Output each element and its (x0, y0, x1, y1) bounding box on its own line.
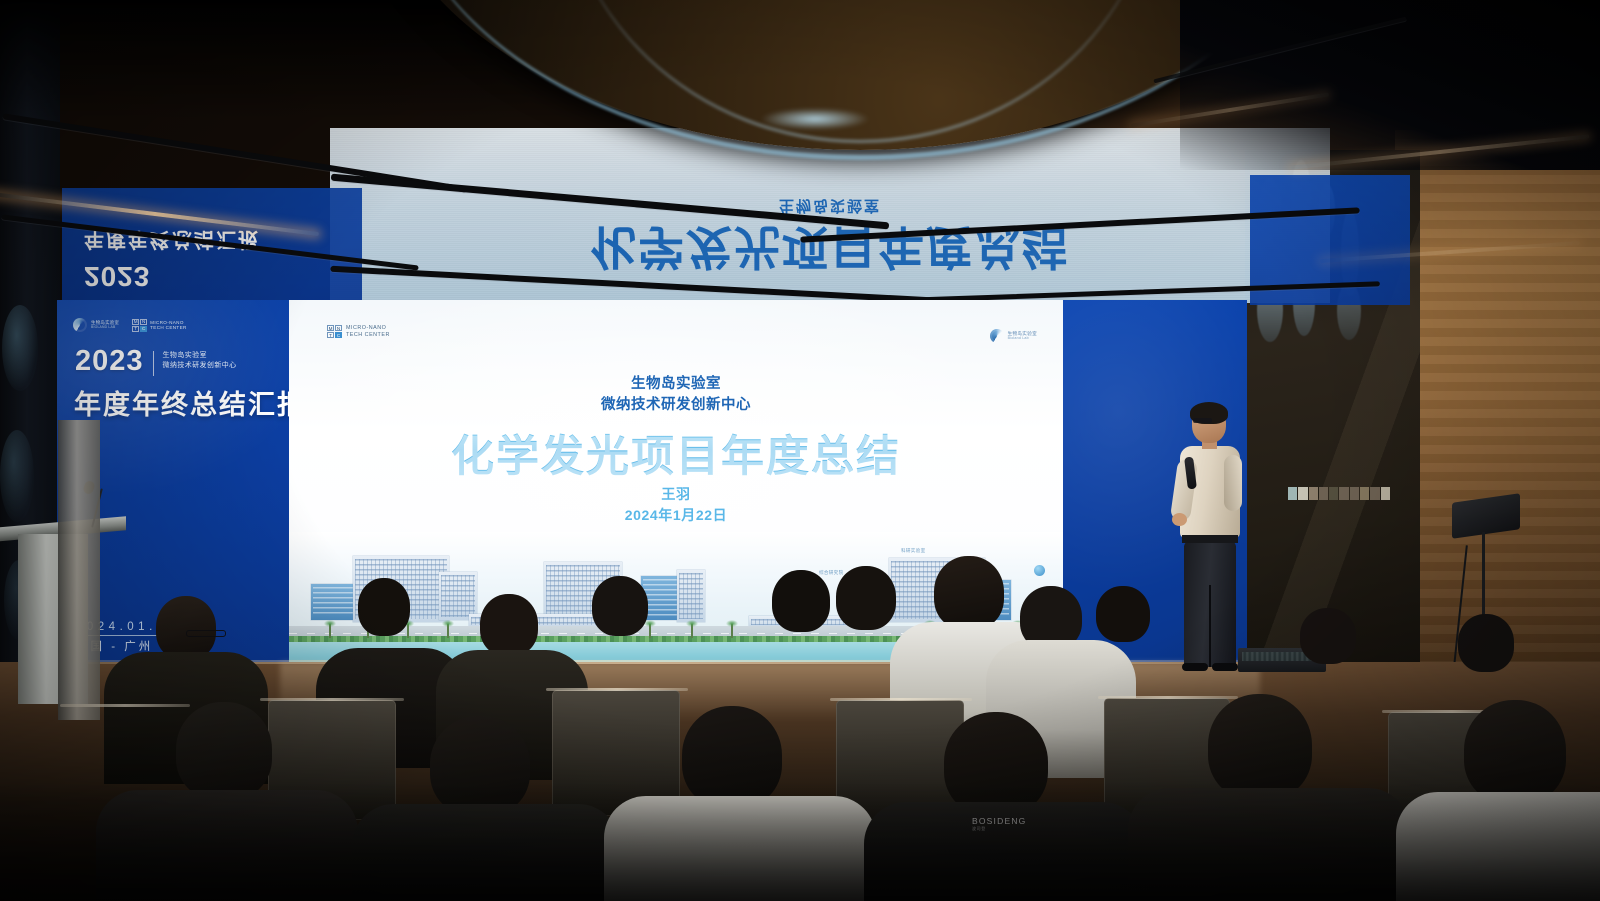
jacket-brand-label: BOSIDENG 波司登 (972, 816, 1026, 832)
presenter-leg-gap (1209, 585, 1211, 667)
presenter-shoe (1182, 663, 1208, 671)
banner-headline: 年度年终总结汇报 (74, 383, 306, 422)
slide-mntc-logo: MNTC MICRO-NANO TECH CENTER (327, 325, 390, 338)
audience-head (934, 556, 1004, 630)
slide-subtitle: 生物岛实验室 微纳技术研发创新中心 (289, 374, 1063, 416)
audience-head (592, 576, 648, 636)
slide-title: 化学发光项目年度总结 (289, 422, 1063, 484)
dome-highlight (760, 108, 870, 130)
reflection-subtitle-text: 生物岛实验室 (330, 196, 1330, 217)
oval-reflection (0, 430, 34, 522)
audience-body (1128, 788, 1410, 901)
campus-decor-sphere (1034, 565, 1045, 576)
mntc-logo-mark: MNTC (132, 319, 147, 332)
campus-palm-tree (649, 624, 651, 638)
color-calibration-strip (1288, 487, 1390, 500)
audience-head (1096, 586, 1150, 642)
campus-palm-tree (329, 624, 331, 638)
banner-divider (153, 351, 154, 376)
banner-subtitle-line1: 生物岛实验室 (163, 351, 237, 360)
campus-palm-tree (691, 624, 693, 638)
audience-head (944, 712, 1048, 816)
jacket-brand-subtext: 波司登 (972, 826, 1026, 832)
audience-head (358, 578, 410, 636)
mntc-logo: MNTC MICRO-NANO TECH CENTER (132, 319, 187, 332)
audience-body-light (1396, 792, 1600, 901)
audience-head (772, 570, 830, 632)
mntc-logo-line1: MICRO-NANO (150, 320, 187, 325)
banner-logo-row: 生物岛实验室 BIOLAND LAB MNTC MICRO-NANO TECH … (73, 318, 187, 332)
audience-eyeglasses (186, 630, 226, 637)
spiral-icon (990, 329, 1004, 343)
bioland-logo-en: BIOLAND LAB (91, 326, 119, 330)
banner-subtitle-line2: 微纳技术研发创新中心 (163, 361, 237, 370)
audience-head (836, 566, 896, 630)
audience-head (1464, 700, 1566, 804)
slide-byline: 王羽 2024年1月22日 (289, 484, 1063, 526)
audience-body-light (604, 796, 876, 901)
slide-presenter-name: 王羽 (289, 484, 1063, 505)
campus-palm-tree (407, 624, 409, 638)
audience-head (176, 702, 272, 800)
slide-subtitle-line2: 微纳技术研发创新中心 (289, 395, 1063, 416)
jacket-brand-text: BOSIDENG (972, 816, 1026, 826)
slide-bioland-logo: 生物岛实验室 Bioland Lab (990, 329, 1037, 343)
banner-year-row: 2023 生物岛实验室 微纳技术研发创新中心 (75, 348, 237, 376)
presenter-belt (1182, 535, 1238, 543)
spiral-icon (73, 318, 87, 332)
mntc-logo-line2: TECH CENTER (150, 325, 187, 330)
auditorium-presentation-photo: 化学发光项目年度总结 生物岛实验室 2023 年度年终总结汇报 生物岛实验室 B… (0, 0, 1600, 901)
slide-subtitle-line1: 生物岛实验室 (289, 374, 1063, 395)
campus-building-label: 科研实验室 (901, 548, 925, 554)
audience-body (352, 804, 620, 901)
audience-head (1458, 614, 1514, 672)
audience-head (1208, 694, 1312, 800)
presenter-hand (1172, 513, 1187, 526)
oval-reflection (2, 305, 38, 391)
campus-building-label: 综合研究院 (819, 570, 843, 576)
bioland-lab-logo: 生物岛实验室 BIOLAND LAB (73, 318, 119, 332)
presenter-shoe (1212, 663, 1238, 671)
campus-palm-tree (731, 624, 733, 638)
slide-bioland-en: Bioland Lab (1008, 337, 1037, 341)
chair-back-rail (830, 698, 972, 701)
bioland-logo-cn: 生物岛实验室 (91, 321, 119, 326)
left-structural-pillar (58, 420, 100, 720)
chair-back-rail (1098, 696, 1238, 699)
presenter-eyeglasses (1193, 418, 1212, 423)
banner-year: 2023 (75, 348, 144, 376)
slide-mntc-line2: TECH CENTER (346, 332, 390, 338)
audience-head (682, 706, 782, 808)
audience-head (480, 594, 538, 656)
campus-palm-tree (447, 624, 449, 638)
chair-back-rail (260, 698, 404, 701)
slide-date: 2024年1月22日 (289, 505, 1063, 526)
chair-back-rail (546, 688, 688, 691)
ceiling-shadow-right (1180, 0, 1600, 170)
campus-building (677, 570, 705, 622)
audience-head (156, 596, 216, 660)
reflection-banner-year: 2023 (84, 260, 150, 292)
audience-head (430, 716, 530, 816)
presenter (1168, 405, 1252, 675)
mntc-logo-mark: MNTC (327, 325, 342, 338)
audience-body (96, 790, 358, 901)
chair-back-rail (60, 704, 190, 707)
presenter-right-arm (1224, 455, 1242, 511)
campus-building (439, 572, 477, 620)
audience-body-bosideng-jacket: BOSIDENG 波司登 (864, 802, 1144, 901)
audience-head (1300, 608, 1356, 664)
